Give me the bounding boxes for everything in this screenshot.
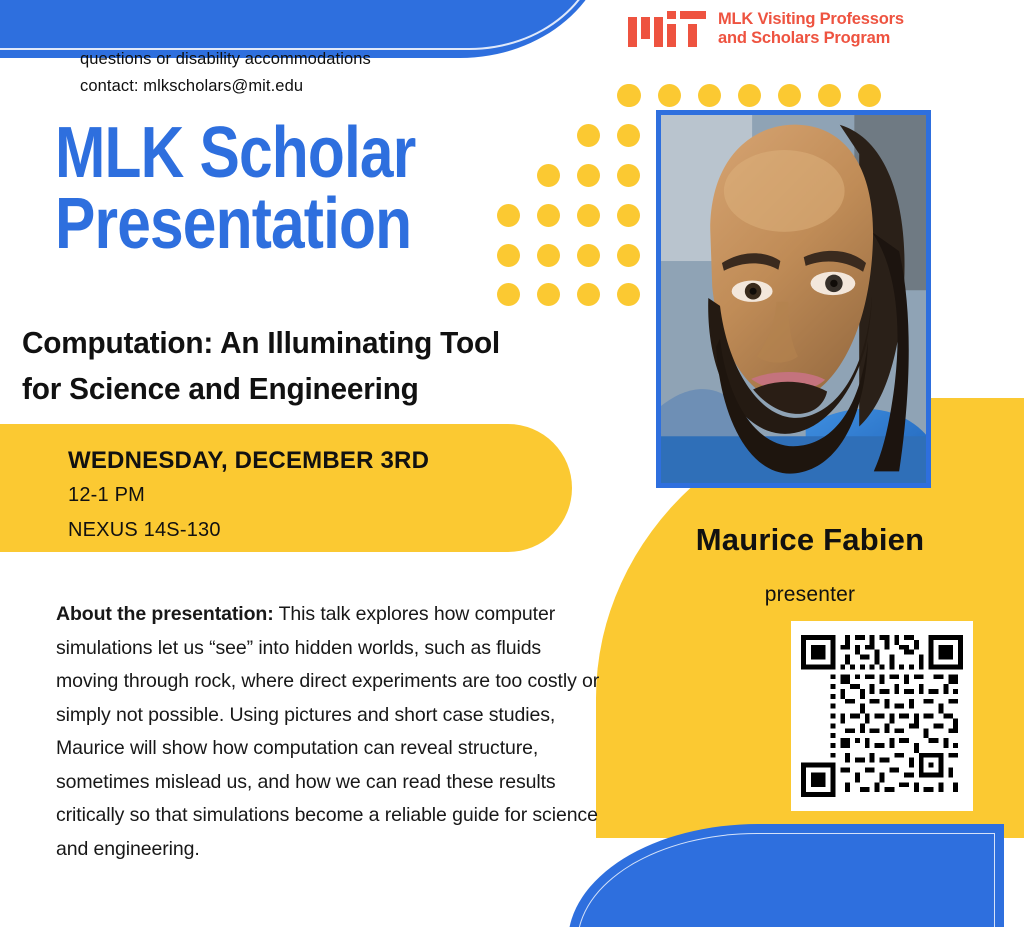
decor-dot [537,283,560,306]
page-title: MLK Scholar Presentation [55,118,450,259]
decor-dot [617,244,640,267]
decor-dot [617,164,640,187]
qr-code[interactable] [791,621,973,811]
presenter-name: Maurice Fabien [596,522,1024,558]
decor-dot [497,283,520,306]
poster-canvas: MLK Visiting Professors and Scholars Pro… [0,0,1024,927]
top-left-blue-inner-border [0,0,602,50]
decor-dot [577,164,600,187]
decor-dot [577,204,600,227]
decor-dot [537,204,560,227]
decor-dot [577,283,600,306]
event-date: WEDNESDAY, DECEMBER 3RD [68,447,429,475]
presentation-subtitle: Computation: An Illuminating Tool for Sc… [22,320,598,412]
decor-dot [537,164,560,187]
contact-info: questions or disability accommodations c… [80,46,371,99]
presenter-role: presenter [596,583,1024,607]
decor-dot [617,204,640,227]
decor-dot [617,84,640,107]
event-location: NEXUS 14S-130 [68,519,221,542]
decor-dot [778,84,801,107]
decor-dot [617,124,640,147]
contact-panel-inner-border [577,833,995,927]
decor-dot [577,244,600,267]
decor-dot [497,244,520,267]
about-body: This talk explores how computer simulati… [56,603,599,860]
contact-panel [568,824,1004,927]
event-time: 12-1 PM [68,484,145,507]
presenter-photo [656,110,931,488]
program-lockup: MLK Visiting Professors and Scholars Pro… [628,10,904,48]
mit-logo-icon [628,11,706,47]
decor-dot [537,244,560,267]
decor-dot [738,84,761,107]
decor-dot [577,124,600,147]
decor-dot [858,84,881,107]
program-name: MLK Visiting Professors and Scholars Pro… [718,10,904,48]
about-paragraph: About the presentation: This talk explor… [56,598,604,866]
decor-dot [497,204,520,227]
decor-dot [617,283,640,306]
about-label: About the presentation: [56,603,274,625]
decor-dot [698,84,721,107]
decor-dot [818,84,841,107]
event-details-banner: WEDNESDAY, DECEMBER 3RD 12-1 PM NEXUS 14… [0,424,572,552]
decor-dot [658,84,681,107]
